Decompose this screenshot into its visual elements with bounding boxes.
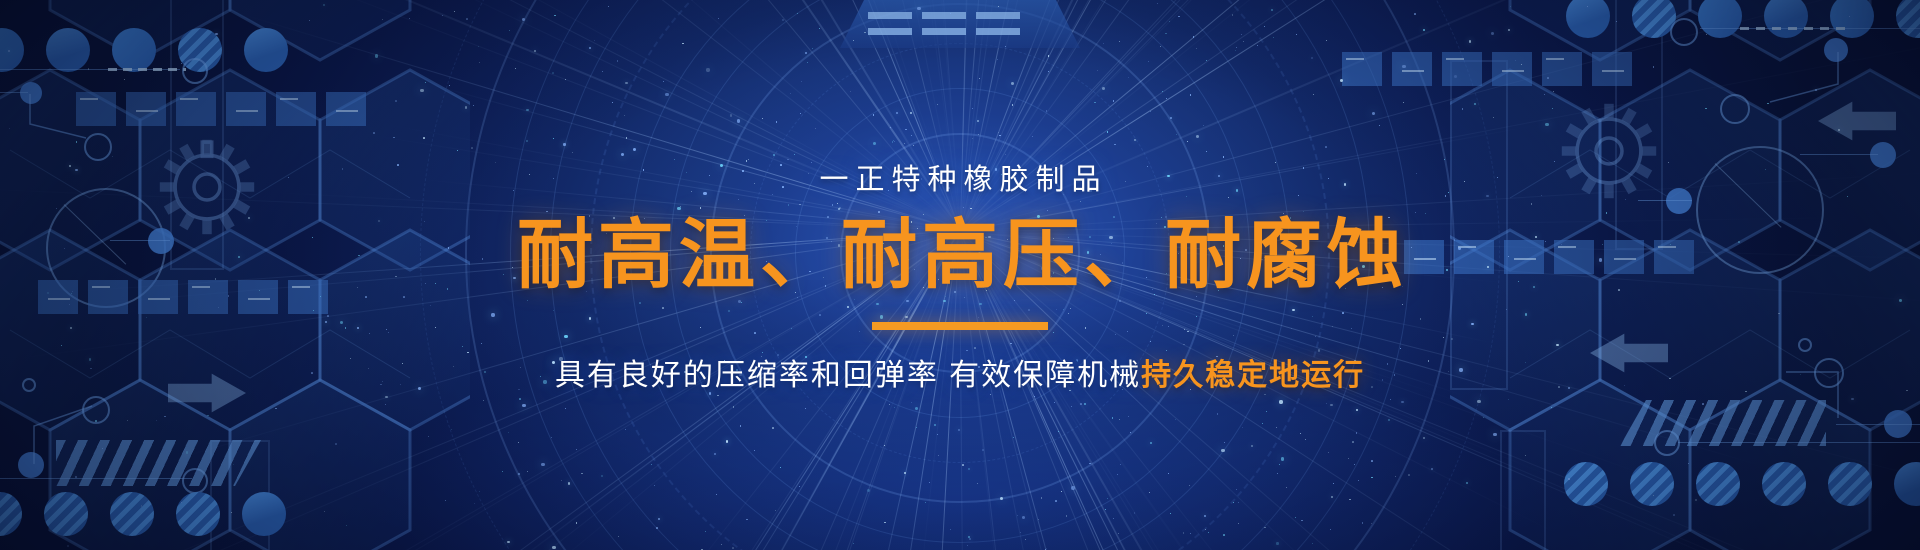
- banner-headline: 耐高温、耐高压、耐腐蚀: [512, 216, 1408, 296]
- banner-content: 一正特种橡胶制品 耐高温、耐高压、耐腐蚀 具有良好的压缩率和回弹率 有效保障机械…: [0, 0, 1920, 550]
- banner-eyebrow: 一正特种橡胶制品: [812, 156, 1107, 198]
- banner-divider: [872, 322, 1048, 330]
- banner-subline: 具有良好的压缩率和回弹率 有效保障机械持久稳定地运行: [555, 350, 1365, 394]
- subline-highlight: 持久稳定地运行: [1141, 359, 1365, 392]
- subline-plain: 具有良好的压缩率和回弹率 有效保障机械: [555, 359, 1141, 392]
- hero-banner: 一正特种橡胶制品 耐高温、耐高压、耐腐蚀 具有良好的压缩率和回弹率 有效保障机械…: [0, 0, 1920, 550]
